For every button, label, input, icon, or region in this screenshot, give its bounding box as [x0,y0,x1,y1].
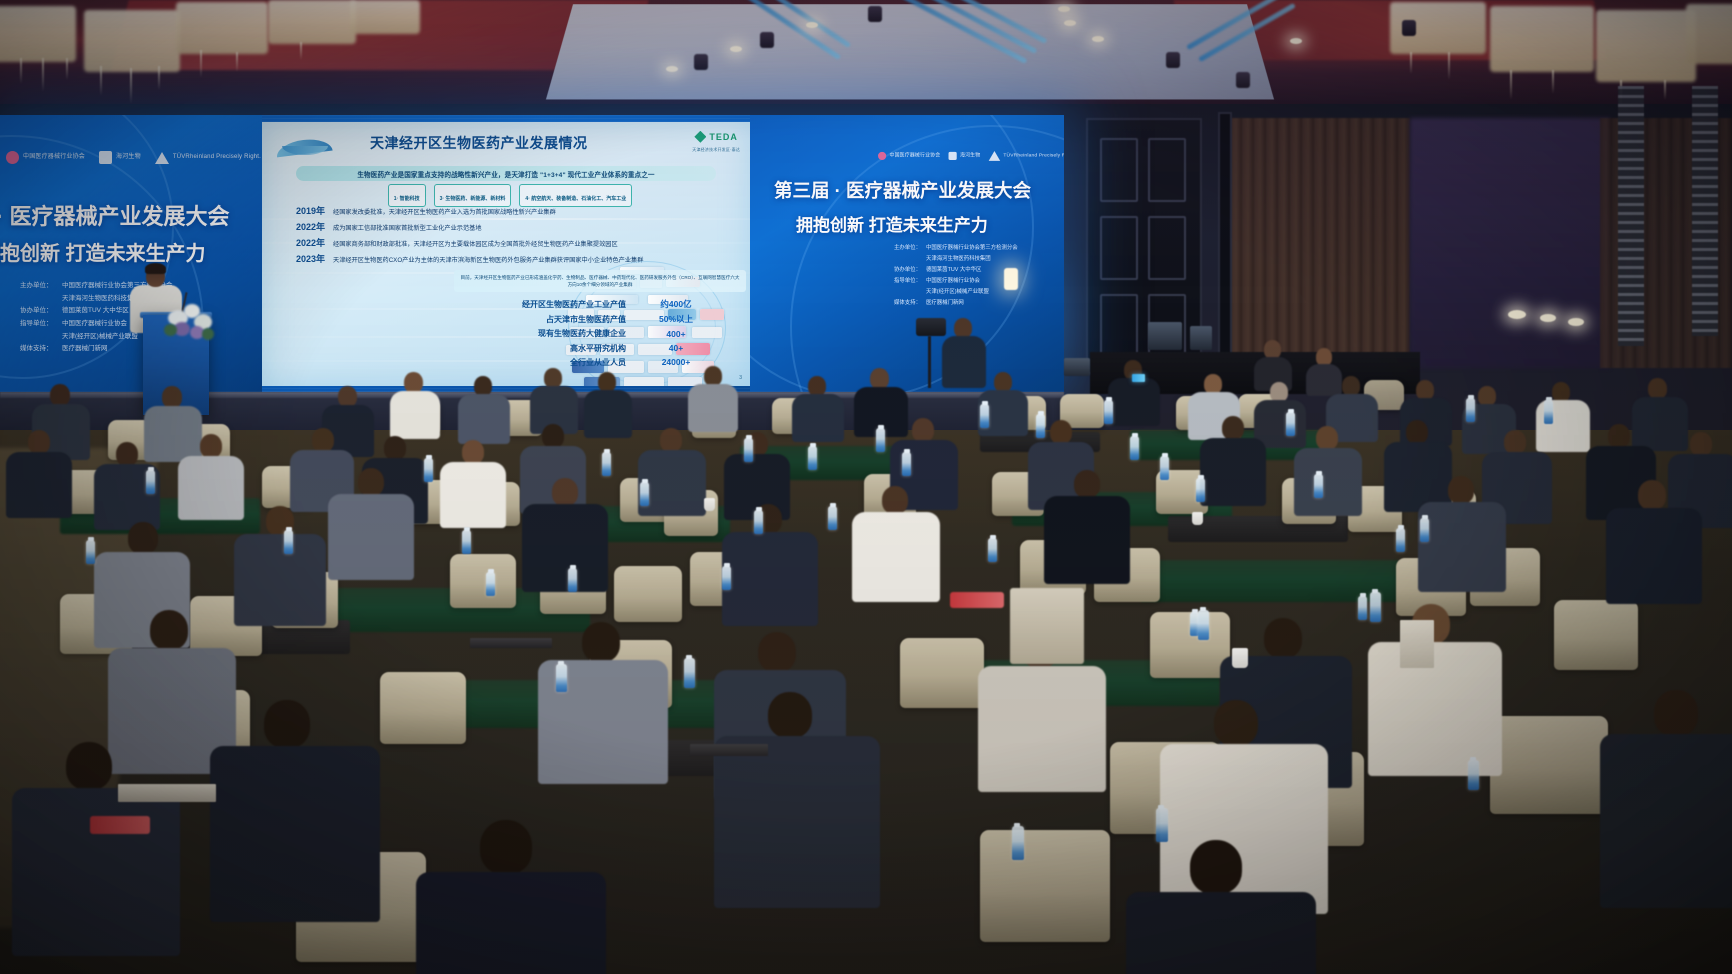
event-banner-left: 中国医疗器械行业协会 海河生物 TÜVRheinland Precisely R… [0,115,262,398]
decorative-wall-lattice [1218,112,1232,376]
water-bottle[interactable] [602,452,611,476]
ceiling-downlight [1092,36,1104,42]
banquet-chair[interactable] [450,554,516,608]
water-bottle[interactable] [146,470,155,494]
event-banner-right: 中国医疗器械行业协会 海河生物 TÜVRheinland Precisely R… [750,115,1064,398]
red-folder [90,816,150,834]
banquet-chair[interactable] [614,566,682,622]
timeline-row: 2022年 经国家商务部和财政部批准，天津经开区为主要载体园区成为全国首批外经贸… [296,236,618,249]
water-bottle[interactable] [1036,414,1045,438]
water-bottle[interactable] [1420,518,1429,542]
presentation-slide: 天津经开区生物医药产业发展情况 TEDA 天津经济技术开发区·泰达 生物医药产业… [262,122,750,386]
slide-note-box: 目前，天津经开区生物医药产业已形成涵盖化学药、生物制品、医疗器械、中药现代化、医… [454,270,746,292]
ceiling-downlight [1058,6,1070,12]
water-bottle[interactable] [684,658,695,688]
banquet-chair[interactable] [980,830,1110,942]
statistic-row: 现有生物医药大健康企业 400+ [458,328,734,339]
ceiling-spotlight [760,32,774,48]
water-bottle[interactable] [556,664,567,692]
water-bottle[interactable] [1286,412,1295,436]
china-medical-device-association-logo: 中国医疗器械行业协会 [878,152,940,160]
video-camera [916,318,946,336]
water-bottle[interactable] [988,538,997,562]
banquet-chair[interactable] [380,672,466,744]
statistic-row: 高水平研究机构 40+ [458,343,734,354]
purple-wall-panel [1410,118,1610,368]
banner-organizers-right: 主办单位：中国医疗器械行业协会第三方检测分会 天津海河生物医药科技集团 协办单位… [894,243,1018,309]
timeline-row: 2022年 成为国家工信部批准国家首批新型工业化产业示范基地 [296,220,482,233]
water-bottle[interactable] [744,438,753,462]
stage-wash-light [1540,314,1556,322]
haihe-biotech-logo: 海河生物 [99,151,141,164]
lighting-truss [1692,86,1718,336]
laptop[interactable] [690,744,768,756]
water-bottle[interactable] [1196,478,1205,502]
water-bottle[interactable] [980,404,989,428]
conference-tote-bag [1010,588,1084,664]
slide-page-number: 3 [739,375,742,381]
av-monitor [1148,322,1182,350]
water-bottle[interactable] [640,482,649,506]
crystal-chandelier [1686,4,1732,64]
crystal-chandelier [1596,10,1696,82]
china-medical-device-association-logo: 中国医疗器械行业协会 [6,151,85,164]
water-bottle[interactable] [876,428,885,452]
teda-logo: TEDA 天津经济技术开发区·泰达 [692,128,740,153]
banquet-chair[interactable] [1490,716,1608,814]
av-monitor [1064,358,1090,376]
tuv-rheinland-logo: TÜVRheinland Precisely Right. [155,152,261,164]
podium-flower-arrangement [162,300,216,344]
banner-title-right: 第三届 · 医疗器械产业发展大会 [774,177,1031,203]
statistic-row: 占天津市生物医药产值 50%以上 [458,313,734,325]
smartphone[interactable] [1400,620,1434,668]
conference-hall-photo: 中国医疗器械行业协会 海河生物 TÜVRheinland Precisely R… [0,0,1732,974]
wall-accent-light [1004,268,1018,290]
ceiling-downlight [806,22,818,28]
ceiling-spotlight [1166,52,1180,68]
water-bottle[interactable] [722,566,731,590]
water-bottle[interactable] [1160,456,1169,480]
slide-statement-banner: 生物医药产业是国家重点支持的战略性新兴产业，是天津打造 "1+3+4" 现代工业… [296,166,716,181]
water-bottle[interactable] [568,568,577,592]
wood-wall-panel [1230,118,1410,388]
ceiling-spotlight [868,6,882,22]
decorative-wall-lattice [1086,118,1202,374]
water-bottle[interactable] [1156,808,1168,842]
water-bottle[interactable] [808,446,817,470]
banquet-chair[interactable] [1554,600,1638,670]
crystal-chandelier [350,0,420,34]
water-bottle[interactable] [284,530,293,554]
water-bottle[interactable] [424,458,433,482]
crystal-chandelier [84,10,180,72]
water-bottle[interactable] [86,540,95,564]
paper-cup[interactable] [1232,648,1248,668]
ceiling-downlight [1064,20,1076,26]
statistic-row: 经开区生物医药产业工业产值 约400亿 [458,298,734,310]
ornate-ceiling [0,0,1732,118]
slide-header-title: 天津经开区生物医药产业发展情况 [370,133,588,153]
stage-wash-light [1508,310,1526,319]
slide-statistics-table: 经开区生物医药产业工业产值 约400亿 占天津市生物医药产值 50%以上 现有生… [458,298,734,371]
ceiling-downlight [666,66,678,72]
water-bottle[interactable] [1012,826,1024,860]
water-bottle[interactable] [1130,436,1139,460]
paper-cup[interactable] [704,498,715,511]
ceiling-center-panel [546,4,1274,99]
crystal-chandelier [1490,6,1594,72]
red-folder [950,592,1004,608]
lighting-truss [1618,86,1644,346]
stage-wash-light [1568,318,1584,326]
crystal-chandelier [0,6,76,62]
banner-title-left: 届 · 医疗器械产业发展大会 [0,199,230,231]
water-bottle[interactable] [902,452,911,476]
crystal-chandelier [176,2,268,54]
water-bottle[interactable] [1358,596,1367,620]
haihe-biotech-logo: 海河生物 [949,152,981,160]
banner-subtitle-right: 拥抱创新 打造未来生产力 [796,211,988,236]
crystal-chandelier [268,0,356,44]
banner-sponsor-logos-right: 中国医疗器械行业协会 海河生物 TÜVRheinland Precisely R… [878,151,1064,161]
water-bottle[interactable] [828,506,837,530]
presenter-hair [145,263,166,274]
water-bottle[interactable] [462,530,471,554]
ceiling-spotlight [1402,20,1416,36]
teda-bio-logo [276,132,332,158]
paper-cup[interactable] [1192,512,1203,525]
water-bottle[interactable] [1370,592,1381,622]
tuv-rheinland-logo: TÜVRheinland Precisely Right. [989,151,1064,161]
water-bottle[interactable] [1468,760,1479,790]
water-bottle[interactable] [486,572,495,596]
water-bottle[interactable] [1198,610,1209,640]
banquet-chair[interactable] [900,638,984,708]
statistic-row: 全行业从业人员 24000+ [458,357,734,368]
water-bottle[interactable] [754,510,763,534]
laptop[interactable] [470,638,552,648]
ceiling-spotlight [694,54,708,70]
water-bottle[interactable] [1466,398,1475,422]
smartphone[interactable] [1132,374,1145,382]
banner-subtitle-left: 拥抱创新 打造未来生产力 [0,237,206,266]
water-bottle[interactable] [1314,474,1323,498]
water-bottle[interactable] [1544,400,1553,424]
notebook [118,784,216,802]
water-bottle[interactable] [1104,400,1113,424]
av-monitor [1190,326,1212,350]
camera-tripod [928,336,931,388]
timeline-row: 2019年 经国家发改委批准，天津经开区生物医药产业入选为首批国家战略性新兴产业… [296,204,556,217]
banner-sponsor-logos-left: 中国医疗器械行业协会 海河生物 TÜVRheinland Precisely R… [6,151,262,164]
ceiling-downlight [1290,38,1302,44]
timeline-row: 2023年 天津经开区生物医药CXO产业为主体的天津市滨海新区生物医药外包服务产… [296,252,643,265]
ceiling-spotlight [1236,72,1250,88]
ceiling-downlight [730,46,742,52]
water-bottle[interactable] [1396,528,1405,552]
